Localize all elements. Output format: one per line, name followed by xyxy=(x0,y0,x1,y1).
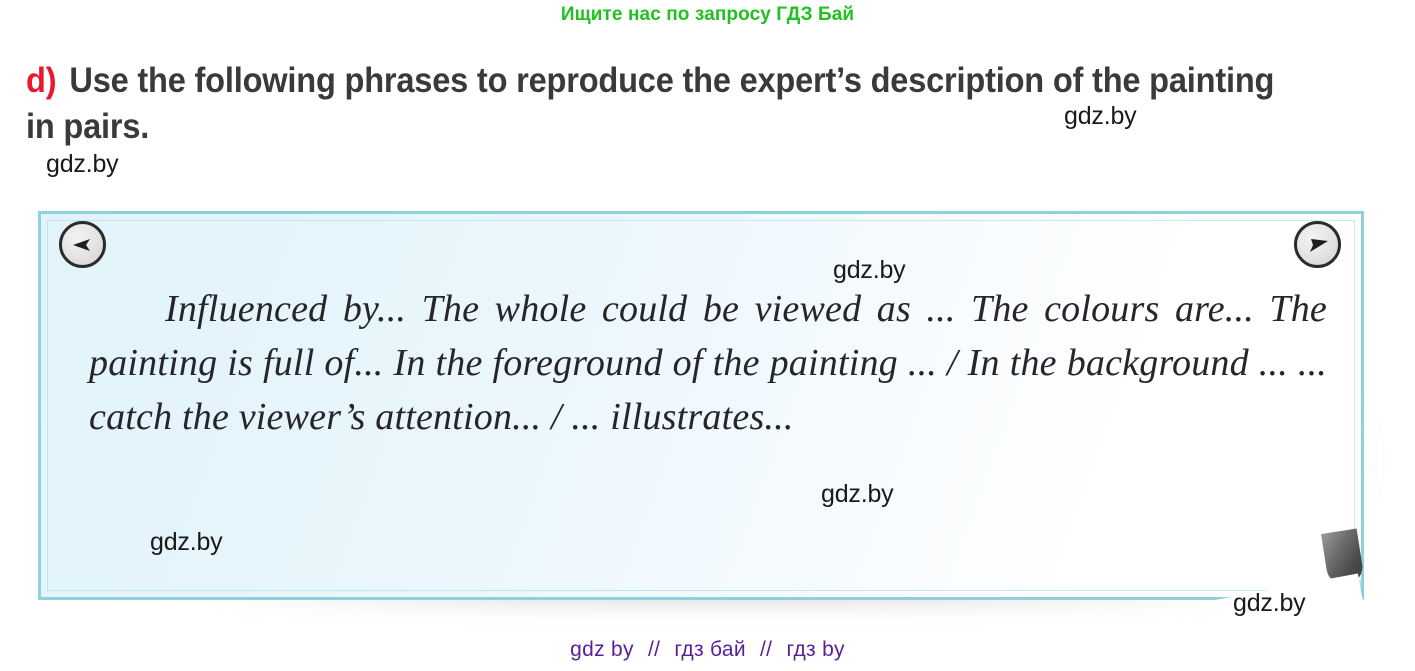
phrase-panel: Influenced by... The whole could be view… xyxy=(38,211,1364,600)
site-promo-banner: Ищите нас по запросу ГДЗ Бай xyxy=(0,0,1415,30)
footer-link-gdz-bai[interactable]: гдз бай xyxy=(674,638,746,661)
left-arrow-icon[interactable] xyxy=(59,221,106,268)
task-letter: d) xyxy=(26,61,56,100)
watermark: gdz.by xyxy=(1064,102,1136,131)
phrase-panel-container: Influenced by... The whole could be view… xyxy=(38,211,1368,604)
watermark: gdz.by xyxy=(46,150,118,179)
phrase-list-text: Influenced by... The whole could be view… xyxy=(89,282,1327,444)
curl-corner-shape xyxy=(1321,529,1363,588)
watermark: gdz.by xyxy=(833,256,905,285)
footer-links: gdz by // гдз бай // гдз by xyxy=(0,638,1415,662)
right-arrow-icon[interactable] xyxy=(1294,221,1341,268)
footer-link-gdz-by-cyr[interactable]: гдз by xyxy=(786,638,844,661)
footer-separator: // xyxy=(760,638,772,661)
footer-separator: // xyxy=(648,638,660,661)
watermark: gdz.by xyxy=(821,480,893,509)
watermark: gdz.by xyxy=(150,528,222,557)
page-curl-decoration xyxy=(1103,491,1363,601)
watermark: gdz.by xyxy=(1233,589,1305,618)
footer-link-gdz-by[interactable]: gdz by xyxy=(570,638,634,661)
